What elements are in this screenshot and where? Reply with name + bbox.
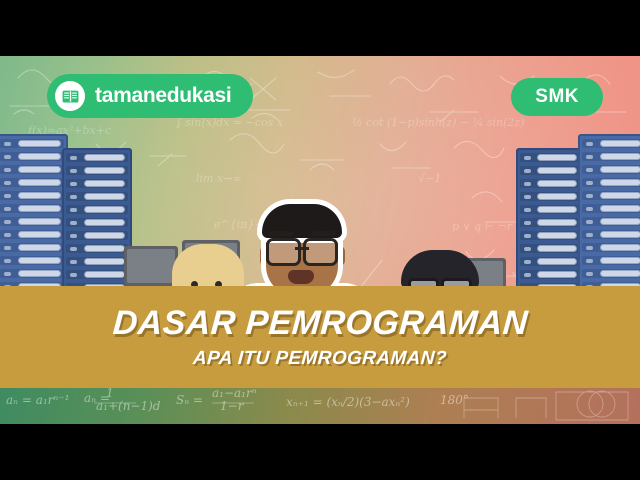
server-unit [66, 192, 128, 201]
server-unit [0, 191, 64, 200]
server-unit [520, 166, 580, 175]
brand-badge[interactable]: tamanedukasi [47, 74, 253, 118]
server-unit [582, 152, 640, 161]
page-subtitle: APA ITU PEMROGRAMAN? [192, 349, 447, 368]
glasses-lens [303, 238, 338, 266]
title-banner: DASAR PEMROGRAMAN APA ITU PEMROGRAMAN? [0, 286, 640, 388]
server-unit [66, 231, 128, 240]
server-unit [0, 256, 64, 265]
server-unit [0, 139, 64, 148]
server-unit [0, 230, 64, 239]
server-unit [0, 217, 64, 226]
server-unit [582, 178, 640, 187]
math-formula-strip: aₙ = a₁rⁿ⁻¹ aₙ = 1 a₁+(n−1)d Sₙ = a₁−a₁r… [0, 388, 640, 424]
letterbox-bottom [0, 424, 640, 480]
presenter-mouth [288, 270, 314, 284]
server-unit [66, 257, 128, 266]
server-unit [0, 243, 64, 252]
server-unit [0, 152, 64, 161]
server-unit [520, 205, 580, 214]
server-unit [582, 191, 640, 200]
presenter-eyebrow [269, 231, 293, 236]
svg-text:xₙ₊₁ = (xₙ/2)(3−axₙ²): xₙ₊₁ = (xₙ/2)(3−axₙ²) [286, 395, 410, 409]
presenter-eyebrow [311, 231, 335, 236]
server-unit [520, 153, 580, 162]
server-unit [0, 178, 64, 187]
server-unit [66, 179, 128, 188]
server-unit [582, 243, 640, 252]
glasses-lens [266, 238, 301, 266]
brand-name: tamanedukasi [95, 84, 231, 108]
level-badge[interactable]: SMK [511, 78, 603, 116]
server-unit [582, 204, 640, 213]
server-unit [582, 269, 640, 278]
server-unit [0, 269, 64, 278]
server-unit [66, 166, 128, 175]
page-title: DASAR PEMROGRAMAN [111, 306, 528, 340]
server-unit [582, 230, 640, 239]
level-badge-label: SMK [535, 86, 579, 108]
server-unit [520, 192, 580, 201]
svg-text:½ cot (1−p)sinh(z) − ¼ sin(2z): ½ cot (1−p)sinh(z) − ¼ sin(2z) [352, 116, 524, 129]
svg-text:lim x→∞: lim x→∞ [196, 172, 242, 185]
server-unit [66, 153, 128, 162]
server-unit [66, 205, 128, 214]
svg-text:aₙ = a₁rⁿ⁻¹: aₙ = a₁rⁿ⁻¹ [6, 393, 69, 407]
svg-text:a₁+(n−1)d: a₁+(n−1)d [96, 399, 161, 413]
server-unit [582, 139, 640, 148]
server-unit [582, 256, 640, 265]
server-unit [66, 270, 128, 279]
server-unit [66, 244, 128, 253]
eyeglasses-icon [266, 238, 338, 260]
video-thumbnail: f(x)=ax²+bx+c ∫ sin(x)dx = −cos x ½ cot … [0, 0, 640, 480]
open-book-icon [55, 81, 85, 111]
letterbox-top [0, 0, 640, 56]
svg-text:p ∨ q ⊢ ¬r: p ∨ q ⊢ ¬r [452, 220, 513, 233]
server-unit [0, 165, 64, 174]
svg-text:1−r: 1−r [220, 399, 245, 413]
server-unit [520, 179, 580, 188]
svg-text:√−1: √−1 [418, 172, 441, 185]
svg-text:180°: 180° [440, 393, 469, 407]
server-unit [582, 165, 640, 174]
server-unit [66, 218, 128, 227]
glasses-bridge [295, 247, 309, 250]
server-unit [520, 231, 580, 240]
server-unit [520, 218, 580, 227]
svg-text:Sₙ =: Sₙ = [176, 393, 203, 407]
server-unit [0, 204, 64, 213]
server-unit [582, 217, 640, 226]
